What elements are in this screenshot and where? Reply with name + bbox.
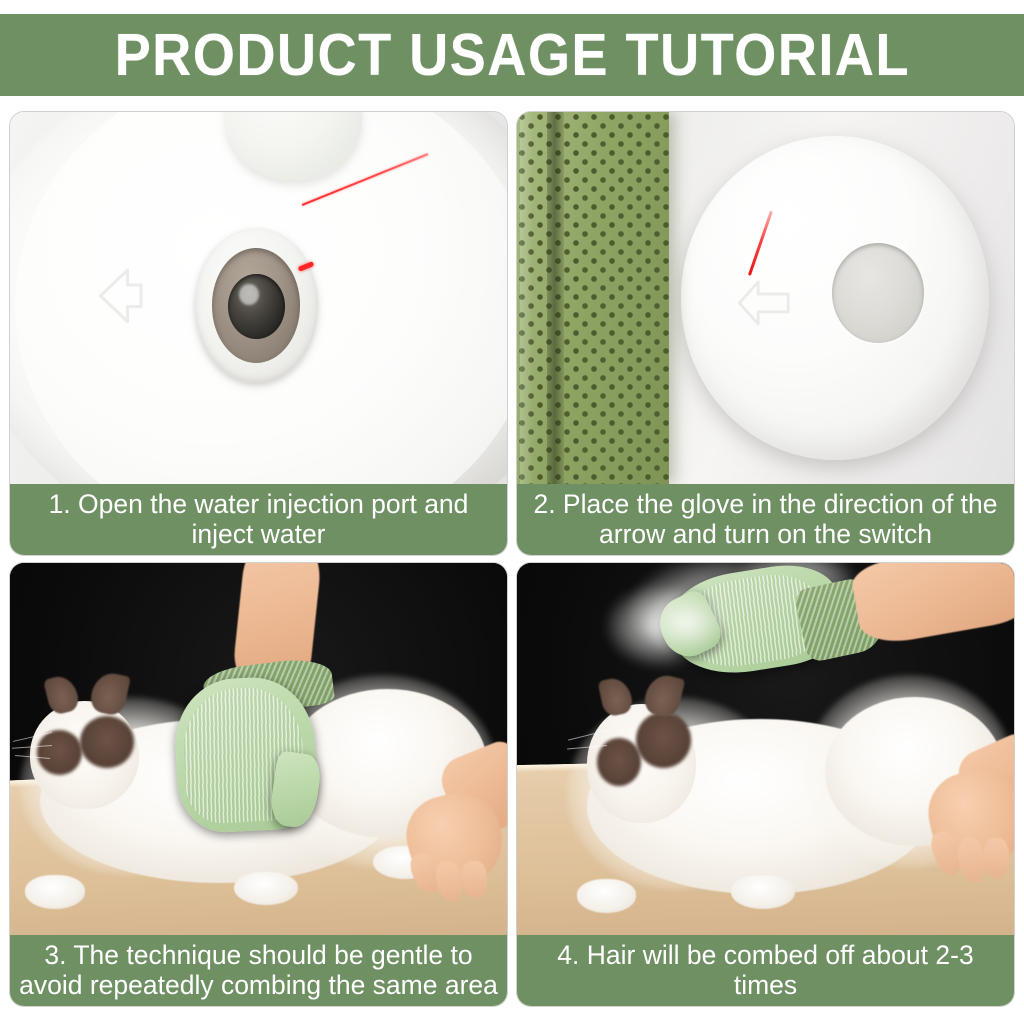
step-3-caption-text: 3. The technique should be gentle to avo… <box>16 941 501 1000</box>
glove-placement-scene <box>517 112 1014 484</box>
cat-face-mask <box>80 716 135 768</box>
embossed-arrow-icon <box>736 269 791 337</box>
white-disc-body <box>681 136 989 460</box>
embossed-arrow-icon <box>88 262 145 330</box>
water-injection-port-scene <box>10 112 507 484</box>
header-banner: PRODUCT USAGE TUTORIAL <box>0 14 1024 96</box>
cat-paw <box>25 875 85 908</box>
green-glove-fabric <box>517 112 669 484</box>
step-3-photo <box>10 563 507 935</box>
fabric-fold-shadow <box>547 112 564 484</box>
loose-hair-cloud <box>646 593 726 653</box>
step-4-photo <box>517 563 1014 935</box>
tutorial-step-panel-3: 3. The technique should be gentle to avo… <box>10 563 507 1006</box>
step-4-caption-text: 4. Hair will be combed off about 2-3 tim… <box>523 941 1008 1000</box>
device-nub <box>226 112 362 180</box>
hair-removal-scene <box>517 563 1014 935</box>
cat-paw <box>731 875 796 908</box>
power-switch-button[interactable] <box>832 243 924 343</box>
red-pointer-line <box>748 210 773 275</box>
tutorial-step-panel-1: 1. Open the water injection port and inj… <box>10 112 507 555</box>
step-2-caption: 2. Place the glove in the direction of t… <box>517 484 1014 555</box>
tutorial-step-grid: 1. Open the water injection port and inj… <box>10 112 1014 1006</box>
tutorial-step-panel-2: 2. Place the glove in the direction of t… <box>517 112 1014 555</box>
step-1-caption-text: 1. Open the water injection port and inj… <box>16 490 501 549</box>
step-2-caption-text: 2. Place the glove in the direction of t… <box>523 490 1008 549</box>
cat-paw <box>577 879 637 912</box>
fabric-highlight <box>520 112 534 484</box>
step-3-caption: 3. The technique should be gentle to avo… <box>10 935 507 1006</box>
step-1-caption: 1. Open the water injection port and inj… <box>10 484 507 555</box>
step-2-photo <box>517 112 1014 484</box>
port-valve <box>228 274 284 339</box>
tutorial-step-panel-4: 4. Hair will be combed off about 2-3 tim… <box>517 563 1014 1006</box>
cat-grooming-scene <box>10 563 507 935</box>
water-injection-port <box>195 228 318 383</box>
step-4-caption: 4. Hair will be combed off about 2-3 tim… <box>517 935 1014 1006</box>
cat-face-mask <box>37 730 82 775</box>
page-title: PRODUCT USAGE TUTORIAL <box>114 26 909 85</box>
port-highlight <box>239 284 259 306</box>
white-disc-body <box>15 112 507 484</box>
cat-face-mask <box>636 712 691 768</box>
step-1-photo <box>10 112 507 484</box>
